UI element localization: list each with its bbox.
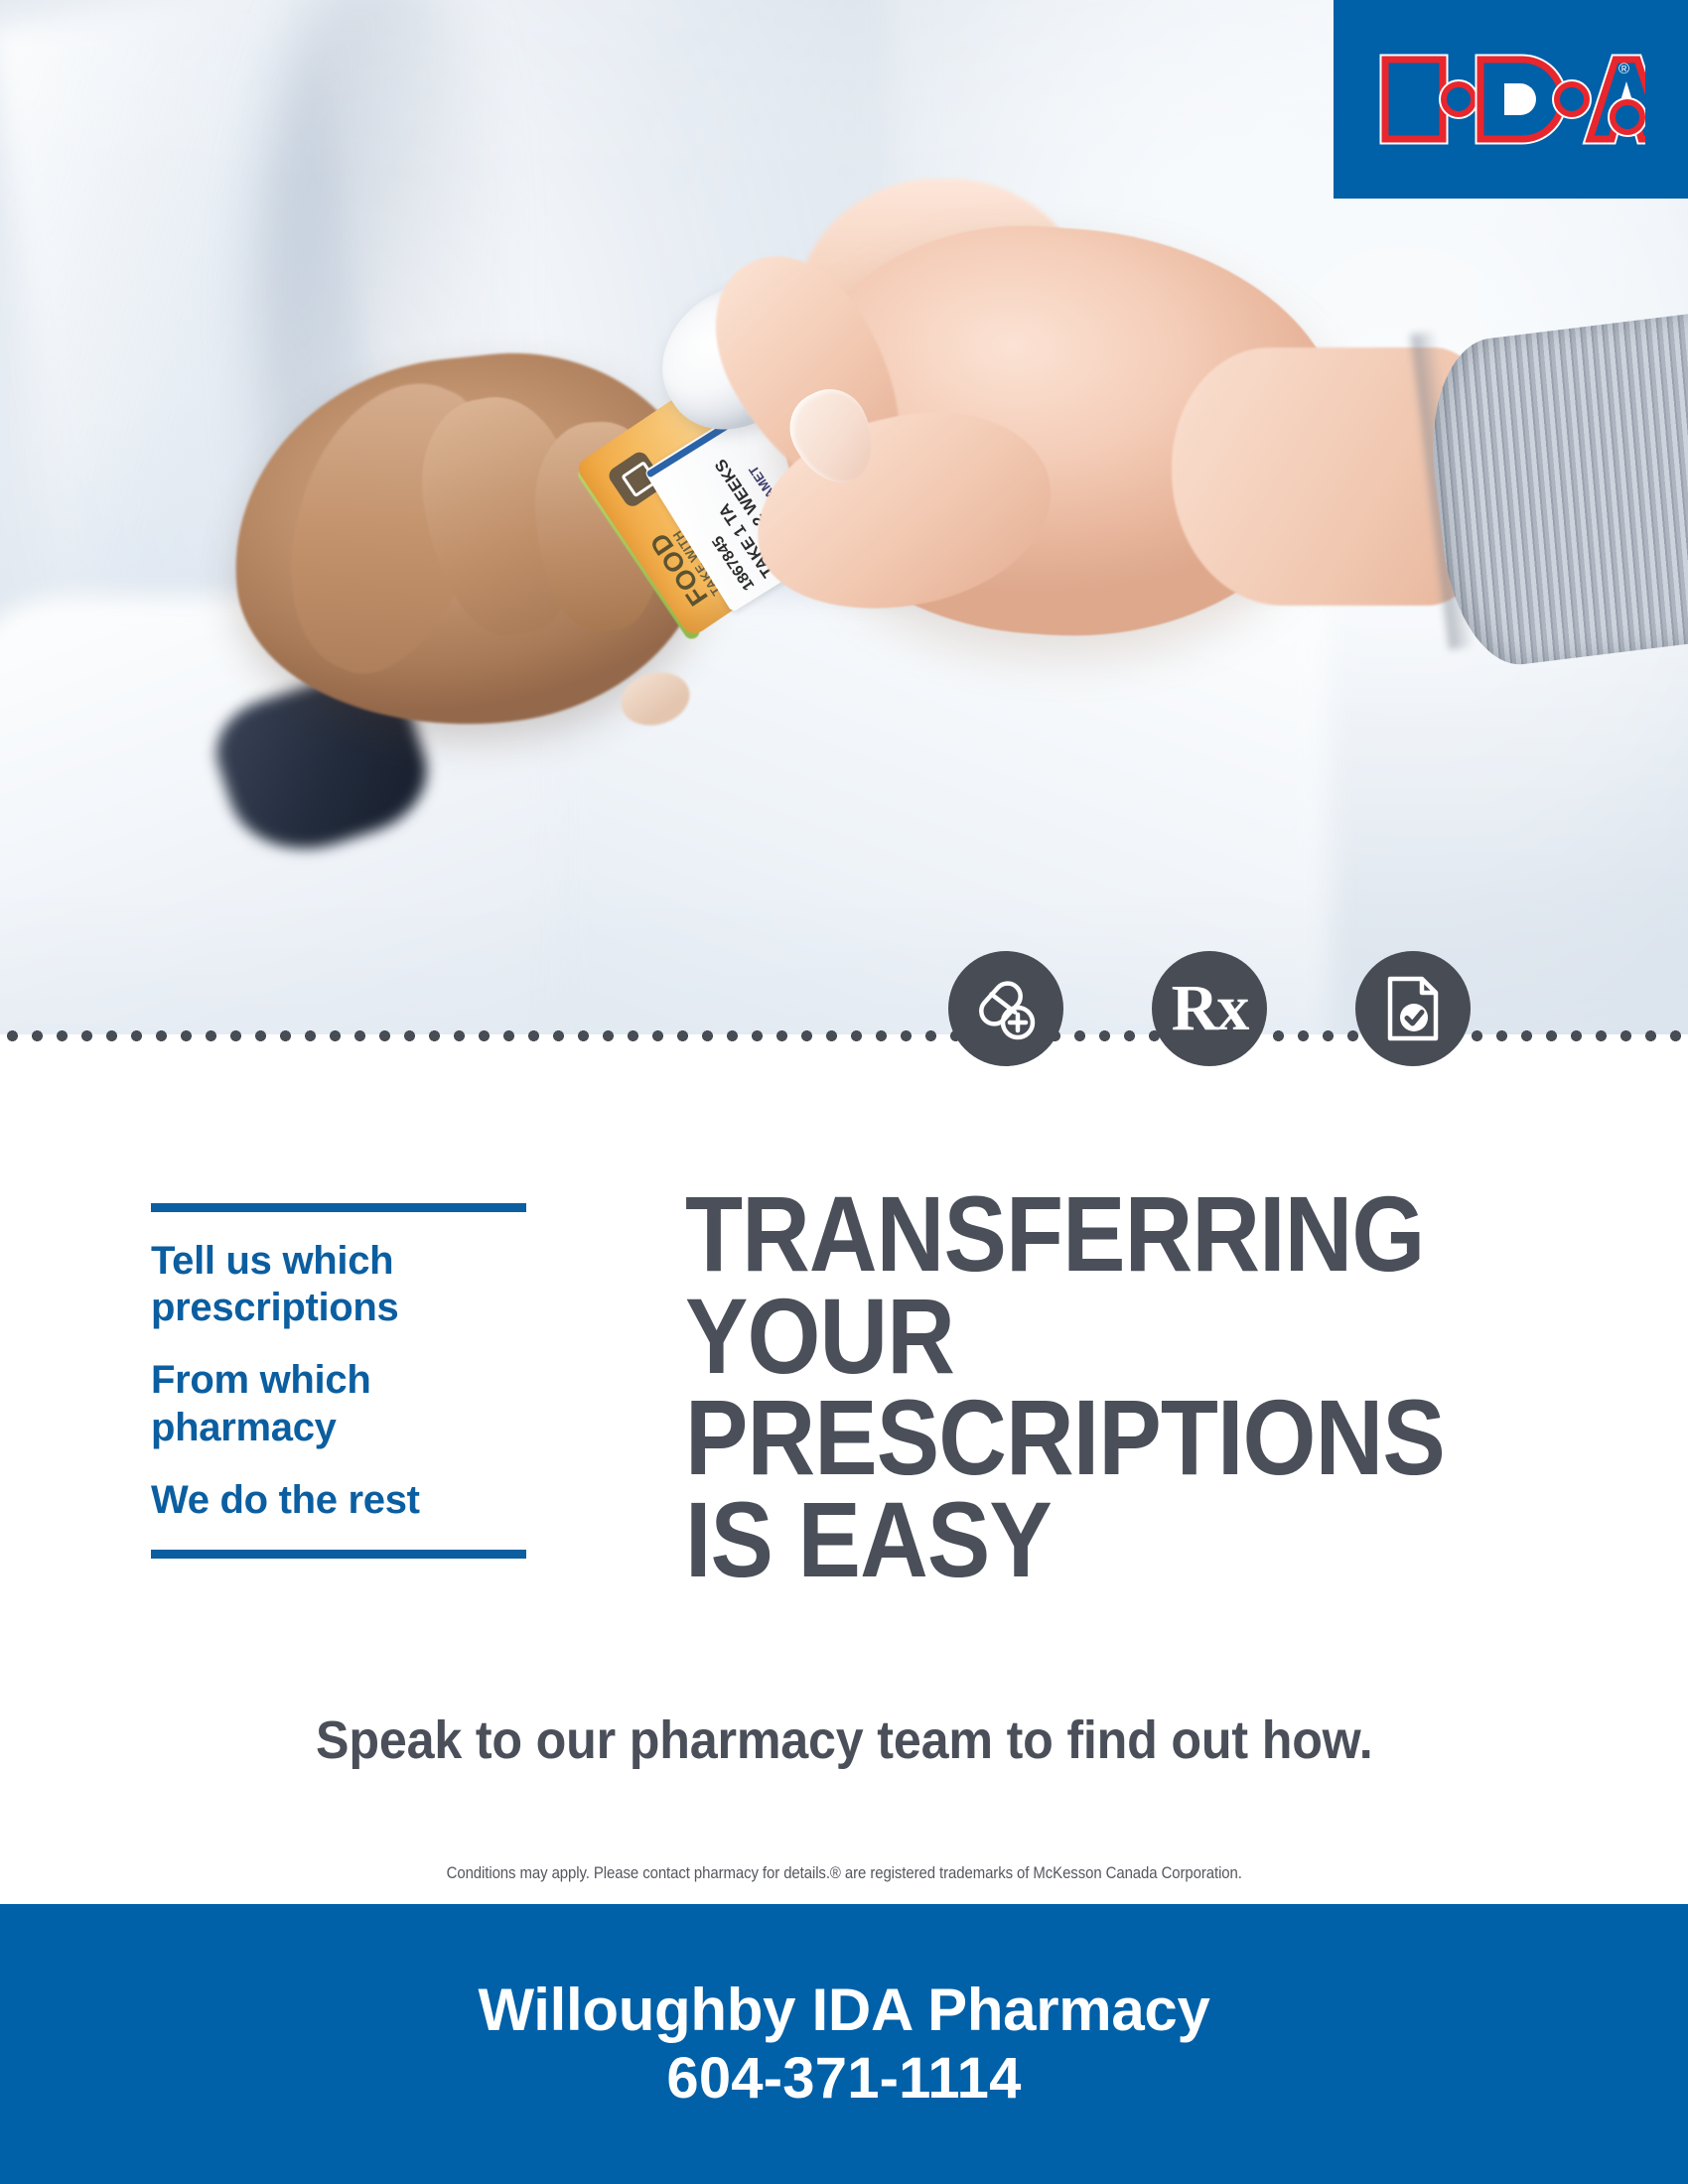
ida-logo-icon: ® [1377, 46, 1645, 153]
headline-line-3: PRESCRIPTIONS [685, 1387, 1410, 1489]
subheading: Speak to our pharmacy team to find out h… [0, 1709, 1688, 1771]
footer-bar: Willoughby IDA Pharmacy 604-371-1114 [0, 1904, 1688, 2184]
step-bullet-1: Tell us which prescriptions [151, 1238, 479, 1331]
steps-text-column: Tell us which prescriptions From which p… [151, 1203, 528, 1559]
headline-line-1: TRANSFERRING [685, 1183, 1410, 1286]
poster: FOOD TAKE WITH 1867845 TAKE 1 TA ONLY 2 … [0, 0, 1688, 2184]
headline-line-2: YOUR [685, 1286, 1410, 1388]
pills-plus-icon [970, 973, 1042, 1044]
step-bullet-3: We do the rest [151, 1477, 479, 1524]
rx-icon: Rx [1172, 976, 1248, 1041]
step-bullet-2: From which pharmacy [151, 1357, 479, 1450]
steps-bullet-list: Tell us which prescriptions From which p… [151, 1212, 528, 1550]
step-icon-pills[interactable] [948, 951, 1063, 1066]
headline-line-4: IS EASY [685, 1489, 1410, 1591]
disclaimer-text: Conditions may apply. Please contact pha… [446, 1863, 1241, 1883]
document-check-icon [1380, 973, 1446, 1044]
registered-mark: ® [1618, 61, 1629, 77]
steps-bottom-rule [151, 1550, 526, 1559]
ida-logo-block[interactable]: ® [1334, 0, 1688, 199]
pharmacy-name: Willoughby IDA Pharmacy [478, 1977, 1209, 2043]
steps-top-rule [151, 1203, 526, 1212]
page-title: TRANSFERRING YOUR PRESCRIPTIONS IS EASY [685, 1183, 1410, 1590]
step-icon-rx[interactable]: Rx [1152, 951, 1267, 1066]
content-area: Tell us which prescriptions From which p… [0, 1034, 1688, 1898]
step-icon-document[interactable] [1355, 951, 1471, 1066]
subheading-text: Speak to our pharmacy team to find out h… [316, 1709, 1372, 1771]
pharmacy-phone[interactable]: 604-371-1114 [666, 2047, 1021, 2112]
disclaimer: Conditions may apply. Please contact pha… [0, 1863, 1688, 1883]
